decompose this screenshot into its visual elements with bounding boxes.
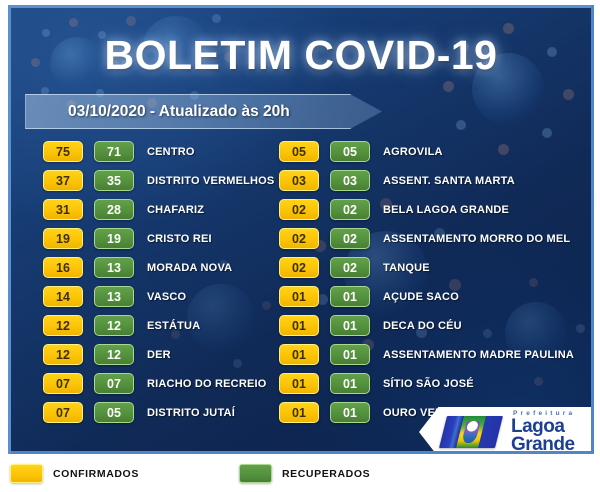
table-row: 02 02 BELA LAGOA GRANDE	[279, 199, 591, 220]
table-row: 05 05 AGROVILA	[279, 141, 591, 162]
confirmed-badge: 14	[43, 286, 83, 307]
confirmed-badge: 07	[43, 402, 83, 423]
locality-label: AGROVILA	[383, 146, 443, 158]
locality-label: ESTÁTUA	[147, 320, 200, 332]
locality-label: DISTRITO JUTAÍ	[147, 407, 235, 419]
locality-label: TANQUE	[383, 262, 430, 274]
recovered-badge: 02	[330, 257, 370, 278]
confirmed-badge: 02	[279, 257, 319, 278]
recovered-badge: 01	[330, 344, 370, 365]
table-row: 12 12 DER	[43, 344, 293, 365]
confirmed-badge: 16	[43, 257, 83, 278]
confirmed-badge: 01	[279, 286, 319, 307]
confirmed-badge: 02	[279, 228, 319, 249]
table-row: 75 71 CENTRO	[43, 141, 293, 162]
locality-label: MORADA NOVA	[147, 262, 232, 274]
table-row: 01 01 ASSENTAMENTO MADRE PAULINA	[279, 344, 591, 365]
confirmed-badge: 01	[279, 373, 319, 394]
locality-label: SÍTIO SÃO JOSÉ	[383, 378, 474, 390]
confirmed-badge: 01	[279, 402, 319, 423]
confirmed-badge: 19	[43, 228, 83, 249]
recovered-badge: 05	[330, 141, 370, 162]
table-row: 12 12 ESTÁTUA	[43, 315, 293, 336]
recovered-color-swatch	[239, 464, 272, 483]
recovered-badge: 01	[330, 315, 370, 336]
recovered-badge: 12	[94, 344, 134, 365]
recovered-badge: 13	[94, 286, 134, 307]
locality-label: ASSENTAMENTO MADRE PAULINA	[383, 349, 574, 361]
locality-label: BELA LAGOA GRANDE	[383, 204, 509, 216]
recovered-badge: 01	[330, 286, 370, 307]
recovered-badge: 07	[94, 373, 134, 394]
confirmed-badge: 02	[279, 199, 319, 220]
locality-label: VASCO	[147, 291, 186, 303]
prefeitura-logo: Prefeitura Lagoa Grande	[419, 407, 591, 451]
locality-label: CHAFARIZ	[147, 204, 204, 216]
poster-background-panel: BOLETIM COVID-19 03/10/2020 - Atualizado…	[11, 8, 591, 451]
table-row: 14 13 VASCO	[43, 286, 293, 307]
locality-label: CENTRO	[147, 146, 195, 158]
table-row: 31 28 CHAFARIZ	[43, 199, 293, 220]
table-row: 03 03 ASSENT. SANTA MARTA	[279, 170, 591, 191]
confirmed-badge: 31	[43, 199, 83, 220]
locality-label: ASSENTAMENTO MORRO DO MEL	[383, 233, 570, 245]
confirmed-badge: 05	[279, 141, 319, 162]
table-row: 19 19 CRISTO REI	[43, 228, 293, 249]
legend-item-recuperados: RECUPERADOS	[239, 464, 370, 483]
table-row: 01 01 DECA DO CÉU	[279, 315, 591, 336]
date-banner-text: 03/10/2020 - Atualizado às 20h	[68, 103, 290, 121]
locality-label: RIACHO DO RECREIO	[147, 378, 267, 390]
recovered-badge: 02	[330, 199, 370, 220]
table-row: 02 02 ASSENTAMENTO MORRO DO MEL	[279, 228, 591, 249]
locality-label: DECA DO CÉU	[383, 320, 462, 332]
recovered-badge: 19	[94, 228, 134, 249]
confirmed-badge: 07	[43, 373, 83, 394]
locality-label: DISTRITO VERMELHOS	[147, 175, 274, 187]
table-row: 01 01 SÍTIO SÃO JOSÉ	[279, 373, 591, 394]
confirmed-badge: 12	[43, 344, 83, 365]
recovered-badge: 13	[94, 257, 134, 278]
covid-bulletin-poster: BOLETIM COVID-19 03/10/2020 - Atualizado…	[0, 0, 600, 492]
locality-label: DER	[147, 349, 171, 361]
recovered-badge: 35	[94, 170, 134, 191]
logo-wordmark: Prefeitura Lagoa Grande	[511, 411, 575, 451]
date-banner: 03/10/2020 - Atualizado às 20h	[25, 94, 382, 129]
frame-border-right	[591, 5, 594, 454]
recovered-badge: 71	[94, 141, 134, 162]
confirmed-badge: 01	[279, 315, 319, 336]
recovered-badge: 12	[94, 315, 134, 336]
confirmed-badge: 03	[279, 170, 319, 191]
legend: CONFIRMADOS RECUPERADOS	[0, 455, 600, 492]
legend-label-confirmados: CONFIRMADOS	[53, 468, 139, 480]
legend-label-recuperados: RECUPERADOS	[282, 468, 370, 480]
data-column-left: 75 71 CENTRO 37 35 DISTRITO VERMELHOS 31…	[43, 141, 293, 431]
table-row: 16 13 MORADA NOVA	[43, 257, 293, 278]
recovered-badge: 28	[94, 199, 134, 220]
logo-line-2: Grande	[511, 436, 575, 451]
table-row: 02 02 TANQUE	[279, 257, 591, 278]
legend-item-confirmados: CONFIRMADOS	[10, 464, 139, 483]
table-row: 37 35 DISTRITO VERMELHOS	[43, 170, 293, 191]
table-row: 07 05 DISTRITO JUTAÍ	[43, 402, 293, 423]
locality-label: AÇUDE SACO	[383, 291, 459, 303]
confirmed-color-swatch	[10, 464, 43, 483]
recovered-badge: 05	[94, 402, 134, 423]
data-column-right: 05 05 AGROVILA 03 03 ASSENT. SANTA MARTA…	[279, 141, 591, 431]
locality-label: ASSENT. SANTA MARTA	[383, 175, 515, 187]
recovered-badge: 01	[330, 373, 370, 394]
page-title: BOLETIM COVID-19	[11, 32, 591, 79]
confirmed-badge: 75	[43, 141, 83, 162]
confirmed-badge: 37	[43, 170, 83, 191]
lagoa-grande-flag-icon	[439, 416, 503, 448]
recovered-badge: 01	[330, 402, 370, 423]
confirmed-badge: 12	[43, 315, 83, 336]
table-row: 07 07 RIACHO DO RECREIO	[43, 373, 293, 394]
locality-label: CRISTO REI	[147, 233, 212, 245]
recovered-badge: 02	[330, 228, 370, 249]
confirmed-badge: 01	[279, 344, 319, 365]
table-row: 01 01 AÇUDE SACO	[279, 286, 591, 307]
recovered-badge: 03	[330, 170, 370, 191]
